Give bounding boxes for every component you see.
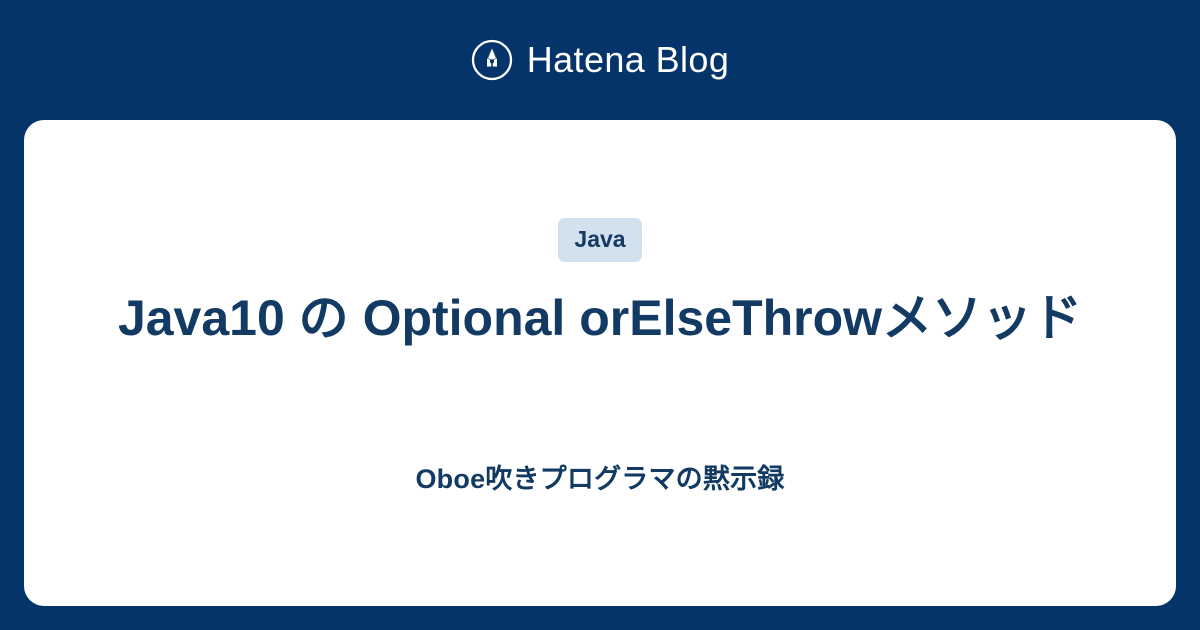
ogp-card-canvas: Hatena Blog Java Java10 の Optional orEls… (0, 0, 1200, 630)
category-row: Java (558, 218, 641, 262)
brand-header: Hatena Blog (0, 0, 1200, 120)
brand-name: Hatena Blog (527, 42, 730, 78)
entry-card-inner: Java Java10 の Optional orElseThrowメソッド O… (24, 120, 1176, 497)
entry-title: Java10 の Optional orElseThrowメソッド (118, 286, 1082, 350)
entry-card: Java Java10 の Optional orElseThrowメソッド O… (24, 120, 1176, 606)
category-chip-java[interactable]: Java (558, 218, 641, 262)
blog-title: Oboe吹きプログラマの黙示録 (415, 462, 784, 497)
pen-nib-circle-icon (471, 39, 513, 81)
